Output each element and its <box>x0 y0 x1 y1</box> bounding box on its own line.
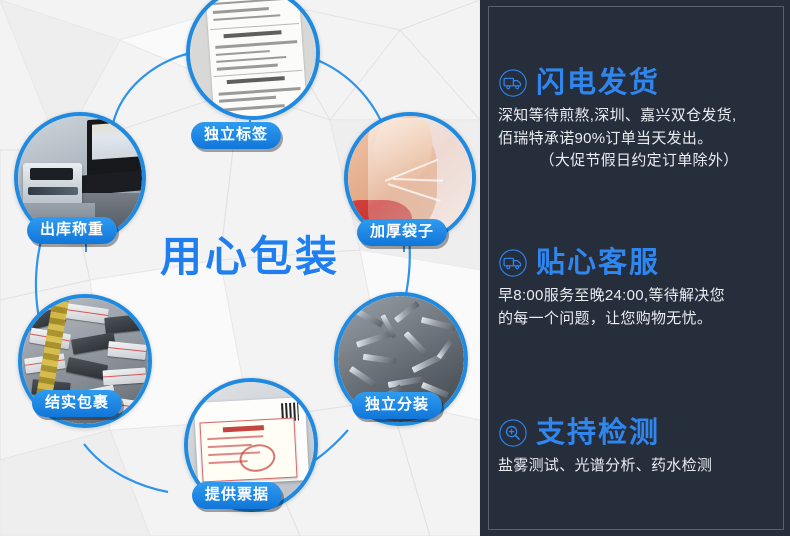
packaging-section: 独立标签 出库称重 <box>0 0 480 536</box>
service-section-testing-support: 支持检测 盐雾测试、光谱分析、药水检测 <box>498 418 780 478</box>
service-title: 贴心客服 <box>536 249 660 278</box>
service-description: 深知等待煎熬,深圳、嘉兴双仓发货, 佰瑞特承诺90%订单当天发出。 （大促节假日… <box>498 105 780 173</box>
search-plus-icon <box>498 418 528 448</box>
label-pill-thickened-bag: 加厚袋子 <box>357 219 447 246</box>
section-title-careful-packaging: 用心包装 <box>150 236 350 278</box>
label-pill-provide-invoice: 提供票据 <box>192 482 282 509</box>
label-pill-sturdy-package: 结实包裹 <box>32 390 122 417</box>
service-section-fast-shipping: 闪电发货 深知等待煎熬,深圳、嘉兴双仓发货, 佰瑞特承诺90%订单当天发出。 （… <box>498 68 780 173</box>
service-guarantee-panel: 闪电发货 深知等待煎熬,深圳、嘉兴双仓发货, 佰瑞特承诺90%订单当天发出。 （… <box>480 0 790 536</box>
service-title: 支持检测 <box>536 419 660 448</box>
service-description: 早8:00服务至晚24:00,等待解决您 的每一个问题，让您购物无忧。 <box>498 285 780 330</box>
truck-icon <box>498 248 528 278</box>
service-title: 闪电发货 <box>536 69 660 98</box>
label-pill-outbound-weighing: 出库称重 <box>27 217 117 244</box>
service-section-customer-support: 贴心客服 早8:00服务至晚24:00,等待解决您 的每一个问题，让您购物无忧。 <box>498 248 780 330</box>
service-description: 盐雾测试、光谱分析、药水检测 <box>498 455 780 478</box>
label-pill-independent-label: 独立标签 <box>191 122 281 149</box>
label-pill-individual-packing: 独立分装 <box>352 392 442 419</box>
truck-icon <box>498 68 528 98</box>
promo-banner: 独立标签 出库称重 <box>0 0 790 536</box>
